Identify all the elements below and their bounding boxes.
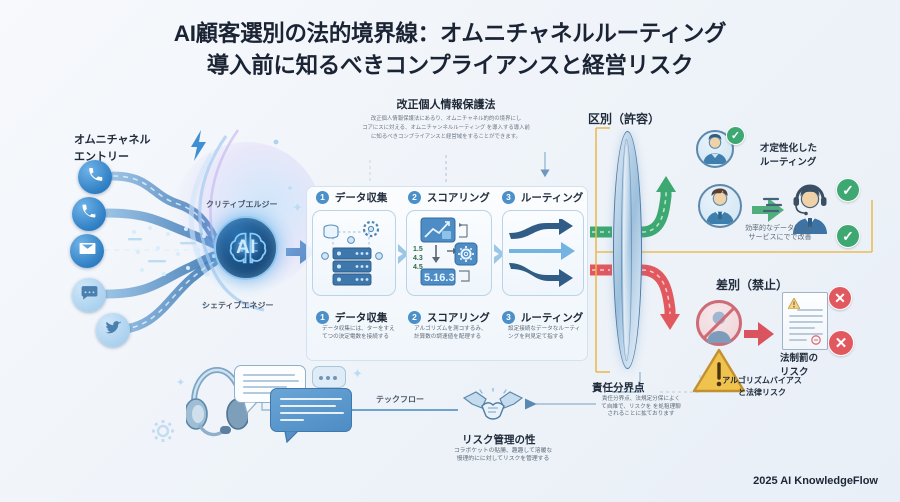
score-chart-gear-icon: 1.5 4.3 4.5 5.16.3 xyxy=(411,215,489,293)
bias-caption: アルゴリズムバイアス と法律リスク xyxy=(676,375,848,399)
legal-risk-document xyxy=(782,292,828,350)
status-badge-allowed-2: ✓ xyxy=(836,178,860,202)
database-servers-icon xyxy=(317,216,393,292)
step-card-2[interactable]: 1.5 4.3 4.5 5.16.3 xyxy=(406,210,492,296)
person-icon xyxy=(700,184,740,226)
handshake-icon xyxy=(462,388,524,426)
hub-bottom-caption: シェティブエネジー xyxy=(202,300,274,311)
privacy-law-note: 改正個人情報保護法 改正個人情報保護法にあるり、オムニチャネル的的の境界にし コ… xyxy=(330,96,562,152)
note-heading: 改正個人情報保護法 xyxy=(330,96,562,112)
ai-hub-label: AI xyxy=(236,237,256,259)
step-number-1: 1 xyxy=(316,191,329,204)
channel-call[interactable] xyxy=(72,197,106,231)
step-card-1[interactable] xyxy=(312,210,396,296)
step-header-2: 2 スコアリング xyxy=(408,190,490,205)
allow-caption: 才定性化した ルーティング xyxy=(760,142,817,171)
channel-social[interactable] xyxy=(96,313,130,347)
channel-email[interactable] xyxy=(70,234,104,268)
phone-handset-icon xyxy=(80,202,99,226)
infographic-canvas: AI顧客選別の法的境界線：オムニチャネルルーティング 導入前に知るべきコンプライ… xyxy=(0,0,900,502)
status-badge-allowed-1: ✓ xyxy=(726,126,745,145)
omnichannel-entry-label: オムニチャネル エントリー xyxy=(74,132,151,165)
step-title-3: ルーティング xyxy=(521,192,583,204)
result-number-1: 1 xyxy=(316,311,329,324)
step-number-3: 3 xyxy=(502,191,515,204)
typing-indicator-bubble xyxy=(312,366,346,388)
footer-credit: 2025 AI KnowledgeFlow xyxy=(753,475,878,487)
status-badge-denied-2: ✕ xyxy=(828,330,854,356)
lightning-bolt-icon xyxy=(188,130,210,162)
svg-text:1.5: 1.5 xyxy=(413,246,423,253)
sparkle-icon: ✦ xyxy=(176,376,185,389)
chat-bubble-icon xyxy=(80,283,99,307)
result-title-1: 1 データ収集 xyxy=(316,310,387,325)
result-number-2: 2 xyxy=(408,311,421,324)
accountability-title: 責任分界点 xyxy=(592,380,645,395)
allow-subcaption: 効率的なデータにより サービスにでで改善 xyxy=(700,224,860,243)
entry-label-line1: オムニチャネル xyxy=(74,134,151,146)
channel-chat[interactable] xyxy=(72,278,106,312)
step-title-1: データ収集 xyxy=(335,192,388,204)
result-desc-2: アルゴリズムを測コするみ、計算数の調速値を配理する xyxy=(414,325,488,342)
channel-phone[interactable] xyxy=(78,160,112,194)
routing-arrows-icon xyxy=(507,219,581,289)
result-desc-3: 設定接続なデータなルーティングを判見定て指する xyxy=(508,325,582,342)
feedback-flow-label: テックフロー xyxy=(376,394,424,405)
chat-bubble-blue xyxy=(270,388,352,432)
step-card-3[interactable] xyxy=(502,210,584,296)
phone-icon xyxy=(86,165,105,189)
result-number-3: 3 xyxy=(502,311,515,324)
mail-icon xyxy=(78,239,97,263)
page-title: AI顧客選別の法的境界線：オムニチャネルルーティング 導入前に知るべきコンプライ… xyxy=(0,18,900,82)
bubble-tail-blue xyxy=(284,431,298,443)
step-title-2: スコアリング xyxy=(427,192,490,204)
bubble-tail-white xyxy=(244,402,258,414)
title-line-1: AI顧客選別の法的境界線：オムニチャネルルーティング xyxy=(174,21,726,46)
note-body-line3: に知るべきコンプライアンスと経営域をすることができます。 xyxy=(330,133,562,142)
ai-brain-hub[interactable]: AI xyxy=(214,216,278,280)
step-header-1: 1 データ収集 xyxy=(316,190,387,205)
allow-zone-label: 区別（許容） xyxy=(588,110,660,127)
warning-triangle-icon xyxy=(788,298,800,309)
risk-management-title: リスク管理の性 xyxy=(462,432,536,447)
step-header-3: 3 ルーティング xyxy=(502,190,583,205)
note-body-line1: 改正個人情報保護法にあるり、オムニチャネル的的の境界にし xyxy=(330,115,562,124)
twitter-bird-icon xyxy=(104,318,123,342)
title-line-2: 導入前に知るべきコンプライアンスと経営リスク xyxy=(0,50,900,82)
svg-text:5.16.3: 5.16.3 xyxy=(424,272,455,284)
gear-icon xyxy=(150,418,176,444)
status-badge-denied-1: ✕ xyxy=(828,286,852,310)
hub-top-caption: クリティブエルジー xyxy=(206,199,278,210)
sparkle-icon: ✦ xyxy=(352,366,363,382)
step-number-2: 2 xyxy=(408,191,421,204)
lens-inner-core xyxy=(621,139,632,361)
svg-text:4.3: 4.3 xyxy=(413,255,423,262)
sparkle-icon: ✦ xyxy=(292,200,303,216)
deny-zone-label: 差別（禁止） xyxy=(716,276,788,293)
note-body-line2: コアにスに対える、オムニチャンネルルーティング を導入する導入前 xyxy=(330,124,562,133)
accountability-desc: 責任分界点、法規定分保によく て自維で、リスクを を処租理聊 されることに拡てお… xyxy=(586,396,696,419)
customer-avatar-allowed-2 xyxy=(698,184,742,228)
banned-customer-icon xyxy=(696,300,742,346)
signal-lines-icon xyxy=(762,196,784,218)
seal-stamp-icon xyxy=(811,335,821,345)
result-title-2: 2 スコアリング xyxy=(408,310,490,325)
result-desc-1: データ収集には、ターをすえてつの決定電数を接続する xyxy=(322,325,396,342)
result-title-3: 3 ルーティング xyxy=(502,310,583,325)
risk-management-desc: コラボケットの貼勝、趣趣して溶暖な 慢理的にに対してリスクを管理する xyxy=(424,448,582,464)
